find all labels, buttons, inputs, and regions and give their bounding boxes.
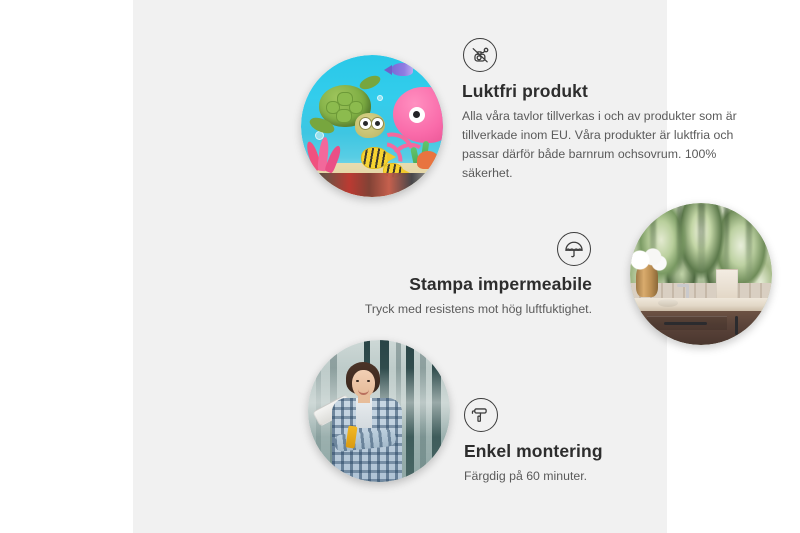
product-photo-bathroom-botanical[interactable] [630,203,772,345]
soap-dish [658,299,678,307]
turtle-eye [371,117,384,130]
person-eye [367,380,370,382]
feature-body: Färgdig på 60 minuter. [464,467,694,486]
product-photo-sea-mural[interactable] [301,55,443,197]
person-eye [356,380,359,382]
umbrella-icon [557,232,591,266]
no-spray-bottle-icon [463,38,497,72]
forest-artwork [308,340,450,482]
door-handle [735,316,738,335]
product-photo-forest-installer[interactable] [308,340,450,482]
leaf-streak [698,203,705,291]
sea-mural-artwork [301,55,443,197]
wood-vanity-cabinet [639,311,772,345]
bathroom-artwork [630,203,772,345]
leaf-streak [677,203,682,291]
screenshot-stage: Luktfri produkt Alla våra tavlor tillver… [0,0,800,533]
feature-title: Luktfri produkt [462,81,754,102]
person-neck [358,395,370,403]
leaf-streak [746,203,752,291]
coral-icon [417,151,439,169]
drawer-handle [664,322,707,325]
blue-fish-icon [391,63,413,76]
octopus-eye [409,107,425,123]
feature-body: Alla våra tavlor tillverkas i och av pro… [462,107,754,183]
feature-body: Tryck med resistens mot hög luftfuktighe… [338,300,592,319]
content-panel: Luktfri produkt Alla våra tavlor tillver… [133,0,667,533]
feature-title: Stampa impermeabile [338,274,592,295]
bubble-icon [377,95,383,101]
paint-roller-icon [464,398,498,432]
feature-block-easy-mounting: Enkel montering Färgdig på 60 minuter. [464,398,694,486]
countertop [630,298,772,311]
feature-block-waterproof: Stampa impermeabile Tryck med resistens … [338,232,592,319]
mural-bottom-strip [301,173,443,197]
white-flowers [630,247,668,273]
feature-title: Enkel montering [464,441,694,462]
feature-block-odour-free: Luktfri produkt Alla våra tavlor tillver… [462,38,754,183]
